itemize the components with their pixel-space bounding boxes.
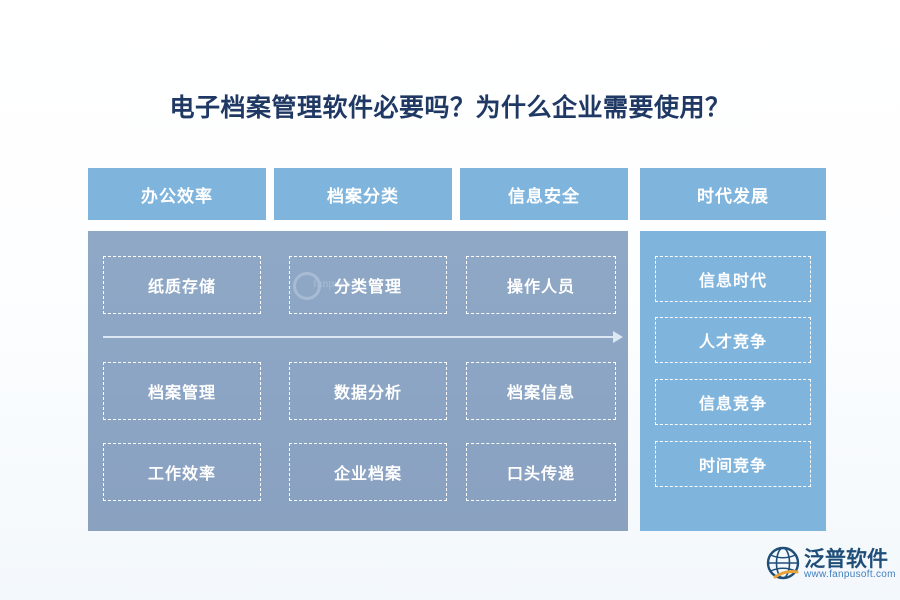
cell-enterprise-archive: 企业档案 [289, 443, 447, 501]
cell-work-efficiency: 工作效率 [103, 443, 261, 501]
globe-icon [766, 546, 800, 580]
page-title: 电子档案管理软件必要吗？为什么企业需要使用？ [0, 88, 900, 124]
cell-operators: 操作人员 [466, 256, 616, 314]
cell-archive-information: 档案信息 [466, 362, 616, 420]
cell-data-analysis: 数据分析 [289, 362, 447, 420]
cell-archive-management: 档案管理 [103, 362, 261, 420]
brand-logo: 泛普软件 www.fanpusoft.com [766, 543, 884, 589]
cell-paper-storage: 纸质存储 [103, 256, 261, 314]
cell-information-era: 信息时代 [655, 256, 811, 302]
cell-time-competition: 时间竞争 [655, 441, 811, 487]
flow-arrow-right [103, 331, 623, 343]
column-header-office-efficiency: 办公效率 [88, 168, 266, 220]
column-header-era-development: 时代发展 [640, 168, 826, 220]
cell-information-competition: 信息竞争 [655, 379, 811, 425]
arrow-head-icon [613, 331, 623, 343]
column-header-information-security: 信息安全 [460, 168, 628, 220]
cell-talent-competition: 人才竞争 [655, 317, 811, 363]
column-header-archive-classification: 档案分类 [274, 168, 452, 220]
brand-url: www.fanpusoft.com [804, 569, 896, 580]
slide-canvas: 电子档案管理软件必要吗？为什么企业需要使用？ 办公效率 档案分类 信息安全 时代… [0, 0, 900, 600]
cell-verbal-transmission: 口头传递 [466, 443, 616, 501]
cell-classification-management: 分类管理 [289, 256, 447, 314]
arrow-line [103, 336, 615, 338]
